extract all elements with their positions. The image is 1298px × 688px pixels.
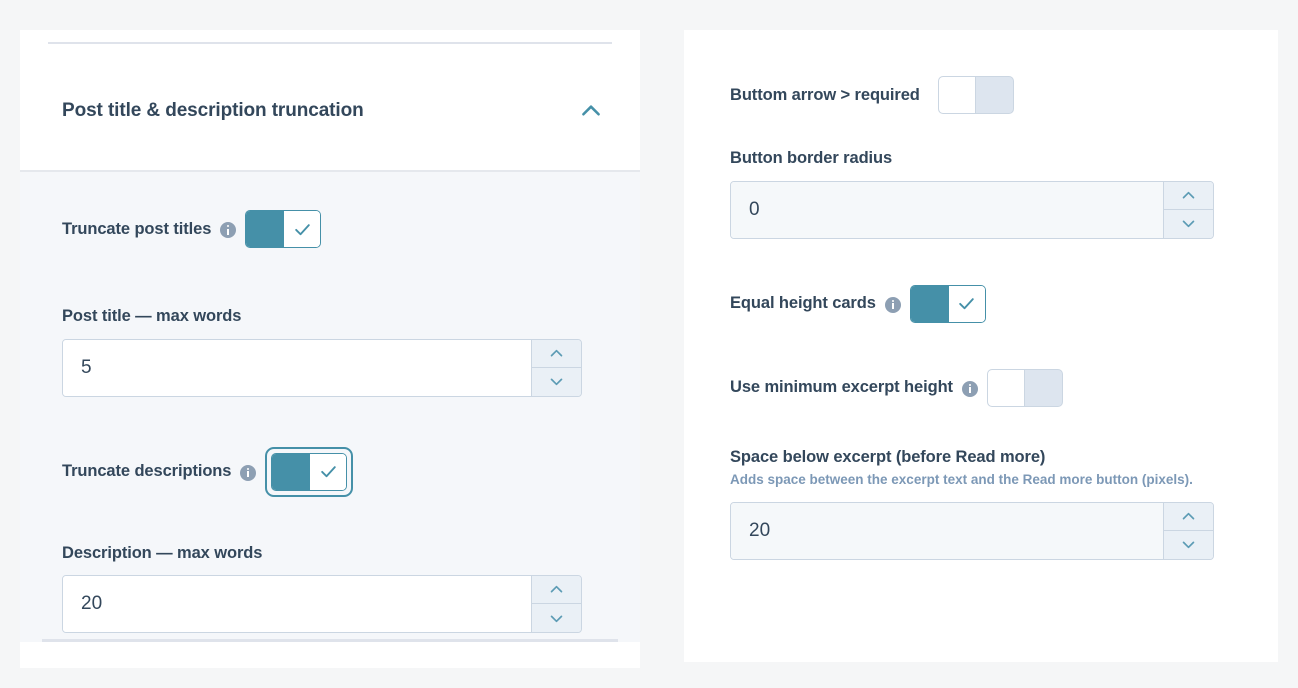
info-icon[interactable] [885, 297, 901, 313]
field-label: Truncate descriptions [62, 461, 231, 482]
toggle-knob [948, 286, 985, 322]
stepper-increment-button[interactable] [532, 340, 581, 368]
stepper-decrement-button[interactable] [1164, 531, 1213, 559]
stepper-decrement-button[interactable] [532, 368, 581, 396]
right-panel-body: Buttom arrow > required Button border ra… [684, 30, 1278, 662]
chevron-down-icon [1180, 215, 1197, 232]
toggle-button-arrow-required[interactable] [938, 76, 1014, 114]
chevron-down-icon [1180, 536, 1197, 553]
accordion-title: Post title & description truncation [62, 100, 364, 122]
check-icon [293, 220, 312, 239]
toggle-track-fill [246, 211, 283, 247]
info-icon[interactable] [962, 381, 978, 397]
toggle-truncate-post-titles[interactable] [245, 210, 321, 248]
toggle-equal-height-cards[interactable] [910, 285, 986, 323]
post-title-max-words-input[interactable]: 5 [63, 340, 531, 396]
field-label: Button border radius [730, 148, 1232, 169]
description-max-words-input[interactable]: 20 [63, 576, 531, 632]
check-icon [957, 294, 976, 313]
field-use-minimum-excerpt-height: Use minimum excerpt height [730, 369, 1232, 407]
toggle-focus-ring [265, 447, 353, 497]
toggle-knob [939, 77, 976, 113]
stepper-decrement-button[interactable] [532, 604, 581, 632]
toggle-knob [283, 211, 320, 247]
number-stepper-space-below-excerpt[interactable]: 20 [730, 502, 1214, 560]
chevron-down-icon [548, 610, 565, 627]
toggle-knob [309, 454, 346, 490]
field-button-border-radius: Button border radius 0 [730, 148, 1232, 239]
stepper-buttons [1163, 182, 1213, 238]
toggle-track-fill [911, 286, 948, 322]
field-button-arrow-required: Buttom arrow > required [730, 76, 1232, 114]
stepper-increment-button[interactable] [532, 576, 581, 604]
number-stepper-post-title-max-words[interactable]: 5 [62, 339, 582, 397]
stepper-increment-button[interactable] [1164, 182, 1213, 210]
field-label: Truncate post titles [62, 219, 211, 240]
chevron-up-icon [548, 581, 565, 598]
field-truncate-descriptions: Truncate descriptions [62, 447, 598, 497]
stepper-buttons [1163, 503, 1213, 559]
field-label: Buttom arrow > required [730, 85, 920, 106]
field-label: Space below excerpt (before Read more) [730, 447, 1232, 468]
chevron-up-icon [1180, 508, 1197, 525]
check-icon [319, 462, 338, 481]
chevron-up-icon[interactable] [578, 98, 604, 124]
stepper-decrement-button[interactable] [1164, 210, 1213, 238]
toggle-use-minimum-excerpt-height[interactable] [987, 369, 1063, 407]
info-icon[interactable] [220, 222, 236, 238]
field-label: Equal height cards [730, 293, 876, 314]
stepper-increment-button[interactable] [1164, 503, 1213, 531]
number-stepper-button-border-radius[interactable]: 0 [730, 181, 1214, 239]
toggle-track-fill [272, 454, 309, 490]
stepper-buttons [531, 340, 581, 396]
left-settings-panel: Post title & description truncation Trun… [20, 30, 640, 668]
button-border-radius-input[interactable]: 0 [731, 182, 1163, 238]
chevron-up-icon [1180, 187, 1197, 204]
accordion-body: Truncate post titles Post title — max wo… [20, 172, 640, 642]
chevron-down-icon [548, 373, 565, 390]
right-settings-panel: Buttom arrow > required Button border ra… [684, 30, 1278, 662]
toggle-truncate-descriptions[interactable] [271, 453, 347, 491]
space-below-excerpt-input[interactable]: 20 [731, 503, 1163, 559]
number-stepper-description-max-words[interactable]: 20 [62, 575, 582, 633]
field-label: Post title — max words [62, 306, 598, 327]
field-help-text: Adds space between the excerpt text and … [730, 470, 1200, 490]
field-space-below-excerpt: Space below excerpt (before Read more) A… [730, 447, 1232, 560]
field-label: Description — max words [62, 543, 598, 564]
field-equal-height-cards: Equal height cards [730, 285, 1232, 323]
field-post-title-max-words: Post title — max words 5 [62, 306, 598, 397]
field-label: Use minimum excerpt height [730, 377, 953, 398]
stepper-buttons [531, 576, 581, 632]
info-icon[interactable] [240, 465, 256, 481]
field-truncate-post-titles: Truncate post titles [62, 210, 598, 248]
toggle-knob [988, 370, 1025, 406]
accordion-header-truncation[interactable]: Post title & description truncation [20, 52, 640, 170]
panel-top-divider [48, 42, 612, 44]
chevron-up-icon [548, 345, 565, 362]
field-description-max-words: Description — max words 20 [62, 543, 598, 634]
settings-screen: Post title & description truncation Trun… [0, 0, 1298, 688]
